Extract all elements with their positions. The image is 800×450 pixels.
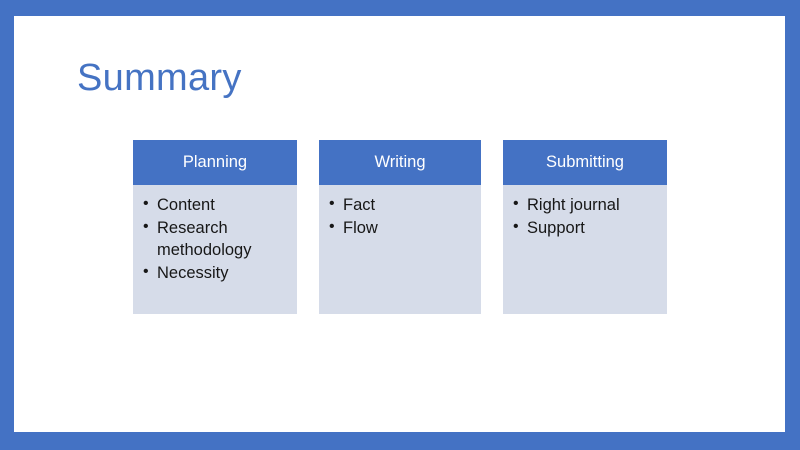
column-submitting[interactable]: Submitting Right journal Support	[503, 140, 667, 314]
list-item: Necessity	[142, 262, 291, 284]
list-item: Research methodology	[142, 217, 291, 261]
column-writing[interactable]: Writing Fact Flow	[319, 140, 481, 314]
list-item: Support	[512, 217, 661, 239]
slide-canvas: Summary Planning Content Research method…	[14, 16, 785, 432]
page-title: Summary	[77, 56, 242, 100]
slide-frame: Summary Planning Content Research method…	[0, 0, 800, 450]
bullet-list-writing: Fact Flow	[328, 194, 475, 239]
column-header-submitting: Submitting	[503, 140, 667, 185]
list-item: Fact	[328, 194, 475, 216]
column-body-writing: Fact Flow	[319, 185, 481, 314]
bullet-list-planning: Content Research methodology Necessity	[142, 194, 291, 284]
column-header-planning: Planning	[133, 140, 297, 185]
column-header-writing: Writing	[319, 140, 481, 185]
column-body-submitting: Right journal Support	[503, 185, 667, 314]
column-planning[interactable]: Planning Content Research methodology Ne…	[133, 140, 297, 314]
bullet-list-submitting: Right journal Support	[512, 194, 661, 239]
list-item: Right journal	[512, 194, 661, 216]
summary-columns-group: Planning Content Research methodology Ne…	[133, 140, 689, 314]
list-item: Content	[142, 194, 291, 216]
list-item: Flow	[328, 217, 475, 239]
column-body-planning: Content Research methodology Necessity	[133, 185, 297, 314]
